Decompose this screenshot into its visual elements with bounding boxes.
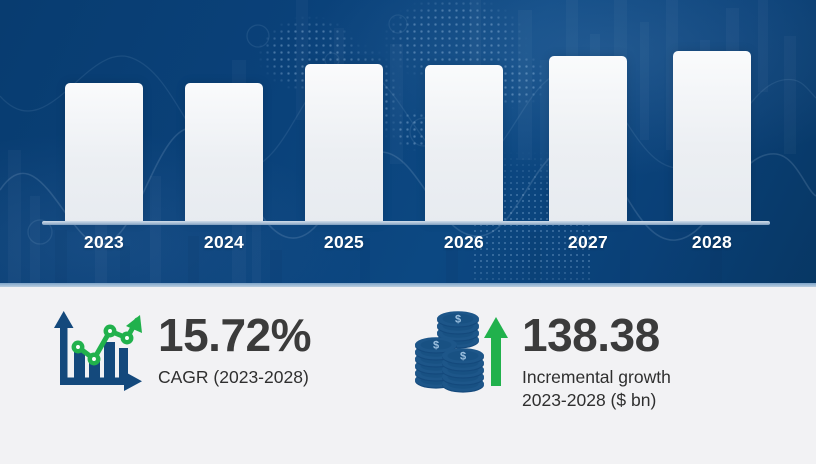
growth-chart-icon — [48, 309, 144, 400]
x-axis-label-2024: 2024 — [185, 232, 263, 253]
bar-2023 — [65, 83, 143, 223]
cagr-value: 15.72% — [158, 309, 311, 361]
svg-text:$: $ — [433, 340, 439, 352]
chart-panel: 2023 2024 2025 2026 2027 2028 — [0, 0, 816, 287]
bar-2028 — [673, 51, 751, 223]
stats-panel: 15.72% CAGR (2023-2028) — [0, 287, 816, 464]
incremental-growth-stat-block: $ $ — [412, 309, 671, 412]
svg-text:$: $ — [460, 351, 466, 363]
x-axis-label-2023: 2023 — [65, 232, 143, 253]
bar-2026 — [425, 65, 503, 223]
x-axis-label-2028: 2028 — [673, 232, 751, 253]
x-axis-label-2025: 2025 — [305, 232, 383, 253]
coins-stack-up-arrow-icon: $ $ — [412, 309, 508, 400]
svg-text:$: $ — [455, 314, 461, 326]
infographic-root: 2023 2024 2025 2026 2027 2028 — [0, 0, 816, 464]
x-axis-label-2027: 2027 — [549, 232, 627, 253]
x-axis-label-2026: 2026 — [425, 232, 503, 253]
bar-2024 — [185, 83, 263, 223]
incremental-growth-value: 138.38 — [522, 309, 671, 361]
incremental-growth-text-group: 138.38 Incremental growth 2023-2028 ($ b… — [522, 309, 671, 412]
cagr-text-group: 15.72% CAGR (2023-2028) — [158, 309, 311, 389]
bar-2025 — [305, 64, 383, 223]
coin-stack-right: $ — [442, 348, 484, 392]
incremental-growth-label: Incremental growth 2023-2028 ($ bn) — [522, 366, 671, 412]
x-axis-line — [42, 221, 770, 225]
bar-2027 — [549, 56, 627, 223]
up-arrow-icon — [484, 317, 508, 386]
cagr-label: CAGR (2023-2028) — [158, 366, 311, 389]
cagr-stat-block: 15.72% CAGR (2023-2028) — [48, 309, 311, 400]
